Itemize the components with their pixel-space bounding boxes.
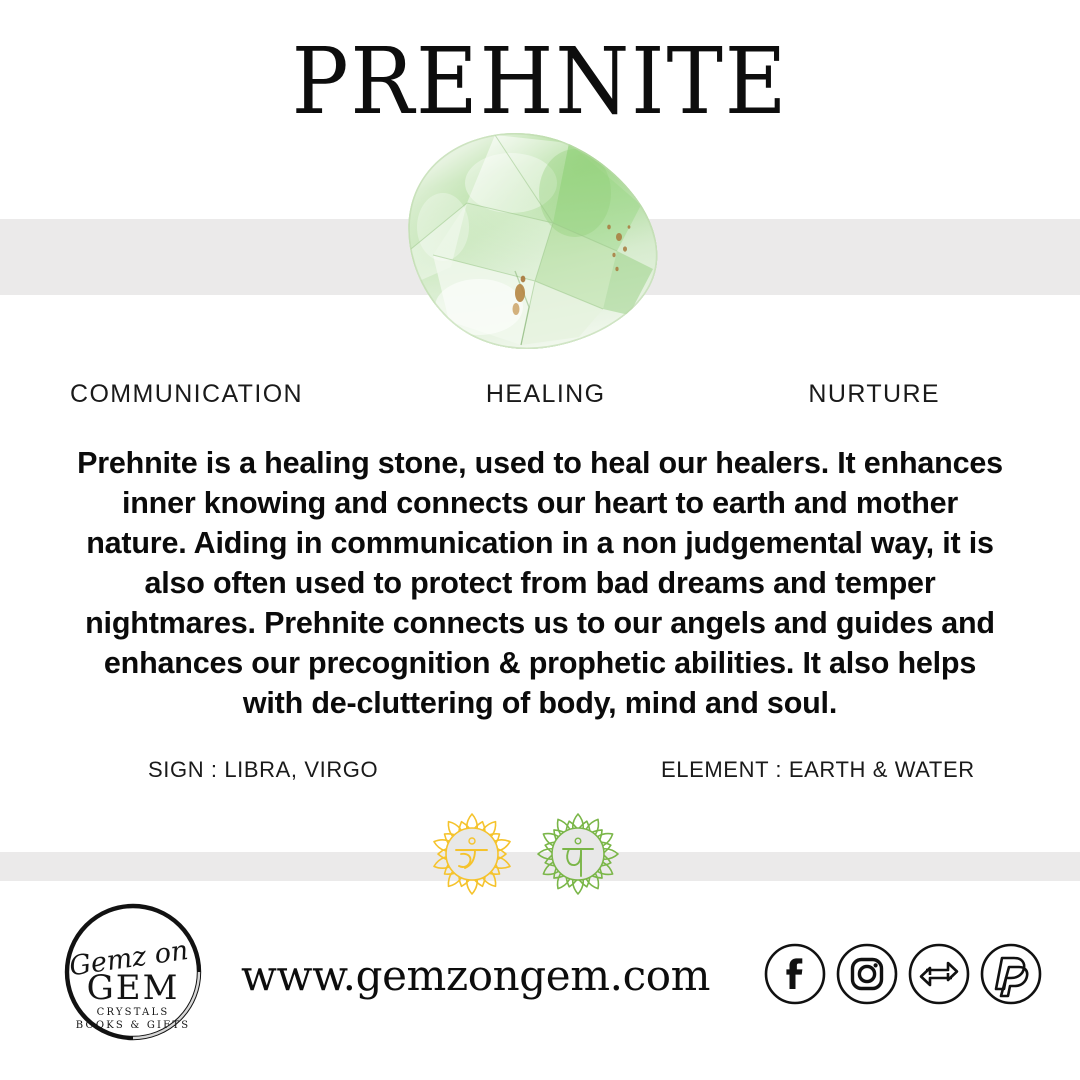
prehnite-stone-image — [403, 131, 667, 353]
facebook-icon[interactable] — [764, 943, 826, 1005]
logo-tagline-2: BOOKS & GIFTS — [76, 1020, 191, 1031]
element-label: ELEMENT : EARTH & WATER — [661, 757, 975, 783]
keyword-nurture: NURTURE — [808, 380, 940, 409]
logo-tagline-1: CRYSTALS — [97, 1007, 170, 1018]
website-url[interactable]: www.gemzongem.com — [241, 951, 710, 1000]
heart-chakra-icon — [529, 810, 627, 902]
zodiac-sign-label: SIGN : LIBRA, VIRGO — [148, 757, 378, 783]
solar-plexus-chakra-icon — [423, 810, 521, 902]
paypal-icon[interactable] — [980, 943, 1042, 1005]
crystal-info-card: PREHNITE — [0, 0, 1080, 1080]
chakra-row — [420, 810, 630, 902]
instagram-icon[interactable] — [836, 943, 898, 1005]
description-text: Prehnite is a healing stone, used to hea… — [70, 443, 1010, 723]
page-title: PREHNITE — [43, 36, 1037, 128]
poshmark-icon[interactable] — [908, 943, 970, 1005]
logo-word-text: GEM — [87, 968, 180, 1008]
social-icon-row — [764, 943, 1042, 1005]
keyword-communication: COMMUNICATION — [70, 380, 303, 409]
keyword-healing: HEALING — [486, 380, 606, 409]
brand-logo: Gemz on GEM CRYSTALS BOOKS & GIFTS — [60, 903, 206, 1041]
keyword-row: COMMUNICATION HEALING NURTURE — [62, 380, 1018, 409]
